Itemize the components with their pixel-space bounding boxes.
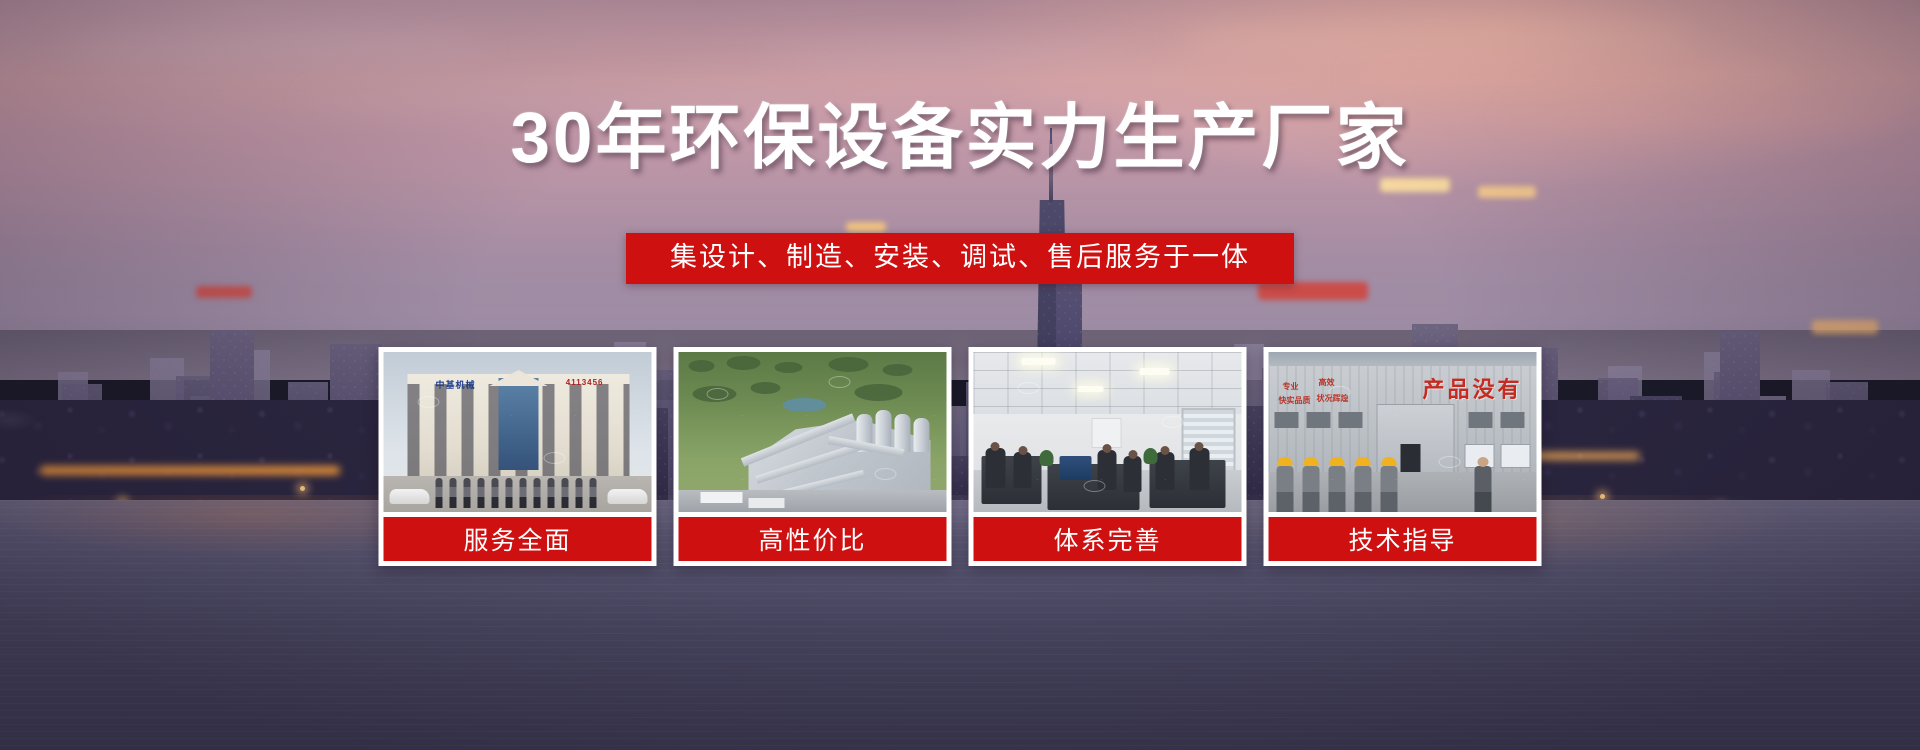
banner-content: 30年环保设备实力生产厂家 集设计、制造、安装、调试、售后服务于一体 中基机械 … (0, 0, 1920, 750)
card-label: 高性价比 (679, 517, 947, 561)
feature-card[interactable]: 产品没有 专业 高效 快实品质 状况辉煌 (1264, 347, 1542, 566)
card-photo-office-meeting (974, 352, 1242, 512)
factory-slogan-text: 高效 (1319, 378, 1335, 388)
factory-slogan-text: 状况辉煌 (1317, 394, 1349, 404)
card-label: 体系完善 (974, 517, 1242, 561)
card-photo-factory-workers: 产品没有 专业 高效 快实品质 状况辉煌 (1269, 352, 1537, 512)
subtitle-text: 集设计、制造、安装、调试、售后服务于一体 (670, 242, 1250, 273)
building-sign-text: 中基机械 (436, 378, 476, 391)
building-phone-text: 4113456 (566, 378, 604, 387)
card-label: 技术指导 (1269, 517, 1537, 561)
card-photo-industrial-plant (679, 352, 947, 512)
feature-card[interactable]: 体系完善 (969, 347, 1247, 566)
page-title: 30年环保设备实力生产厂家 (0, 103, 1920, 174)
subtitle-badge: 集设计、制造、安装、调试、售后服务于一体 (626, 233, 1294, 284)
feature-card[interactable]: 高性价比 (674, 347, 952, 566)
feature-card[interactable]: 中基机械 4113456 服务全面 (379, 347, 657, 566)
card-photo-headquarters: 中基机械 4113456 (384, 352, 652, 512)
factory-slogan-text: 快实品质 (1279, 396, 1311, 406)
feature-card-strip: 中基机械 4113456 服务全面 (379, 347, 1542, 566)
card-label: 服务全面 (384, 517, 652, 561)
factory-banner-text: 产品没有 (1422, 372, 1522, 404)
factory-slogan-text: 专业 (1283, 382, 1299, 392)
